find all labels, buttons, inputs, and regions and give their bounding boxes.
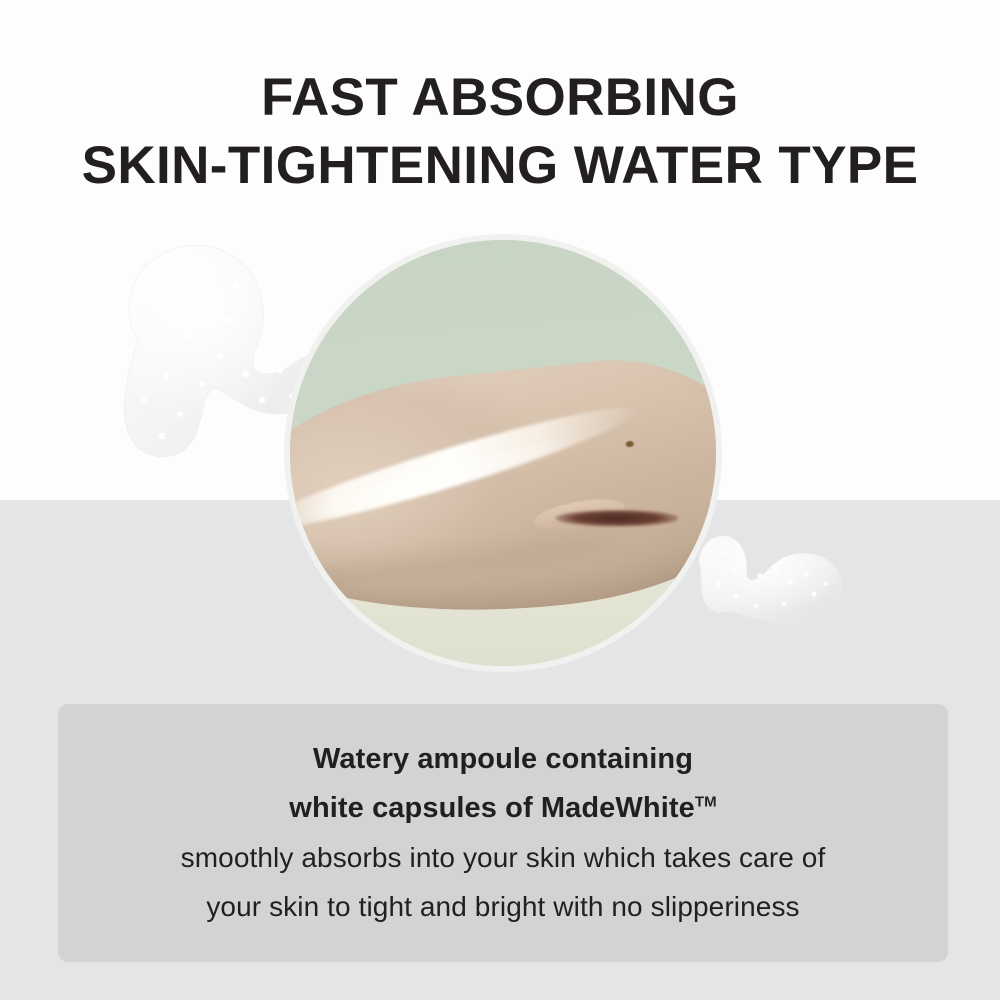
headline-line-2: SKIN-TIGHTENING WATER TYPE — [0, 132, 1000, 200]
caption-bold-line-2: white capsules of MadeWhiteTM — [289, 784, 716, 833]
headline-line-1: FAST ABSORBING — [0, 64, 1000, 132]
product-detail-banner: FAST ABSORBING SKIN-TIGHTENING WATER TYP… — [0, 0, 1000, 1000]
gel-swatch-right — [690, 518, 848, 644]
caption-regular-line-2: your skin to tight and bright with no sl… — [206, 882, 799, 931]
trademark-symbol: TM — [695, 793, 717, 810]
hero-photo — [290, 240, 716, 666]
caption-regular-line-1: smoothly absorbs into your skin which ta… — [181, 833, 826, 882]
caption-brand-text: white capsules of MadeWhite — [289, 792, 695, 824]
hand-crease-shadow — [556, 510, 679, 527]
hand-mole — [626, 441, 635, 448]
hand-shadow — [290, 522, 624, 594]
caption-bold-line-1: Watery ampoule containing — [313, 735, 693, 784]
headline: FAST ABSORBING SKIN-TIGHTENING WATER TYP… — [0, 64, 1000, 200]
caption-text: Watery ampoule containing white capsules… — [58, 704, 948, 962]
